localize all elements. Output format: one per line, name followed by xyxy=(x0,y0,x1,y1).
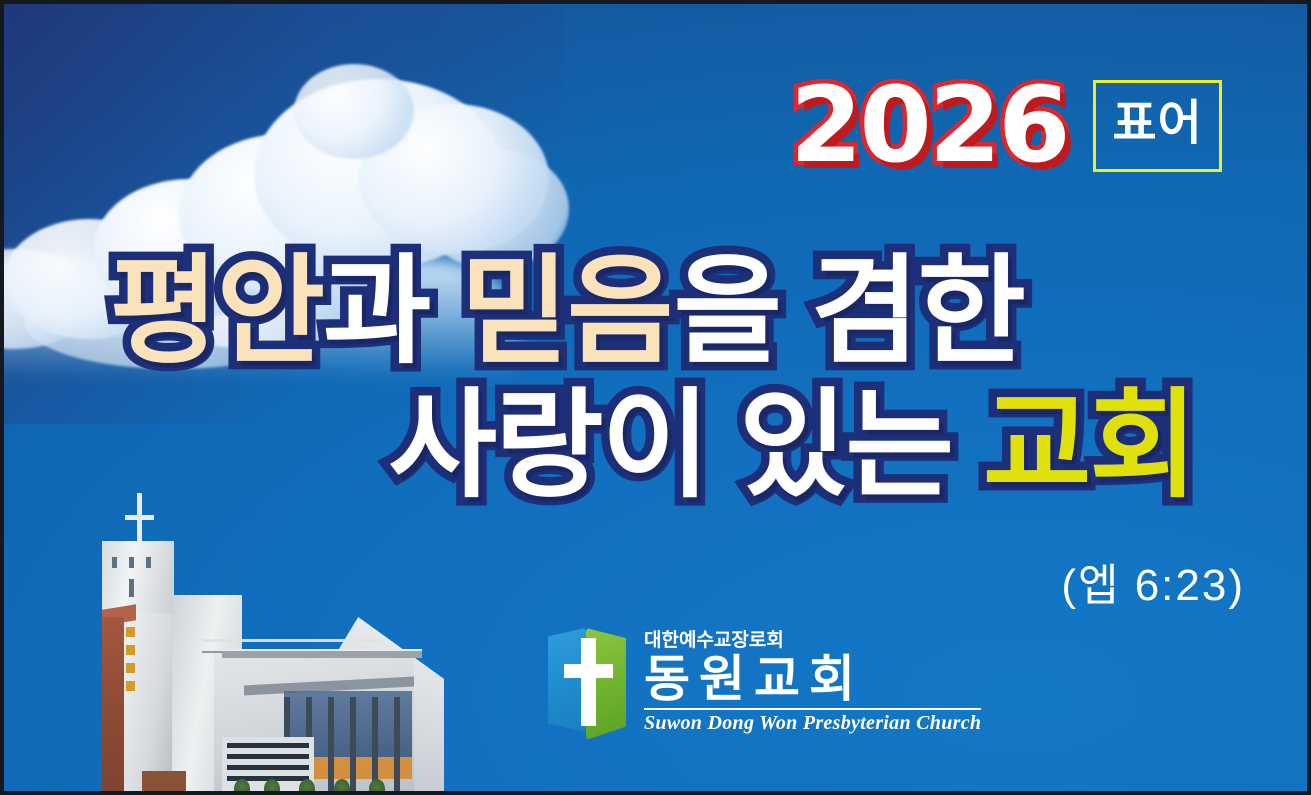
building-column xyxy=(394,697,400,795)
verse-reference: (엡 6:23) xyxy=(1061,549,1245,613)
church-slogan-banner: 2026 표어 평안과 믿음을 겸한 사랑이 있는 교회 (엡 6:23) xyxy=(0,0,1311,795)
building-window xyxy=(129,557,134,568)
tower-sign-char xyxy=(126,663,135,673)
headline-line-1: 평안과 믿음을 겸한 xyxy=(4,252,1254,374)
building-tower-top xyxy=(102,541,174,613)
tree xyxy=(299,779,315,795)
denomination-name: 대한예수교장로회 xyxy=(644,625,981,652)
headline: 평안과 믿음을 겸한 사랑이 있는 교회 xyxy=(4,252,1254,507)
headline-line-2: 사랑이 있는 교회 xyxy=(4,386,1254,508)
slogan-label-box: 표어 xyxy=(1093,80,1221,172)
headline-seg: 믿음 xyxy=(460,252,673,374)
logo-text-block: 대한예수교장로회 동원교회 Suwon Dong Won Presbyteria… xyxy=(644,625,981,736)
year-slogan-row: 2026 표어 xyxy=(790,78,1222,174)
headline-seg: 과 xyxy=(323,252,460,374)
building-window xyxy=(146,557,151,568)
building-entrance xyxy=(142,771,186,795)
tree xyxy=(264,779,280,795)
building-window xyxy=(112,557,117,568)
church-name-english: Suwon Dong Won Presbyterian Church xyxy=(644,708,981,735)
cross-icon xyxy=(581,638,596,726)
headline-seg: 교회 xyxy=(983,386,1196,508)
tree xyxy=(334,779,350,795)
headline-seg: 평안 xyxy=(110,252,323,374)
open-door-cross-icon xyxy=(544,624,630,736)
church-logo: 대한예수교장로회 동원교회 Suwon Dong Won Presbyteria… xyxy=(544,624,981,736)
building-cross-icon xyxy=(125,515,154,520)
slogan-label-text: 표어 xyxy=(1112,100,1202,148)
building-column xyxy=(328,697,334,795)
building-column xyxy=(350,697,356,795)
tower-sign-char xyxy=(126,645,135,655)
year-text: 2026 xyxy=(790,78,1067,174)
tower-sign-char xyxy=(126,627,135,637)
church-name: 동원교회 xyxy=(644,653,981,706)
cloud-puff xyxy=(294,64,414,159)
church-building-photo xyxy=(84,499,444,795)
tree xyxy=(234,779,250,795)
building-accent-column xyxy=(102,617,124,795)
cross-icon xyxy=(564,664,613,678)
headline-seg: 사랑이 있는 xyxy=(389,386,983,508)
headline-seg: 을 겸한 xyxy=(674,252,1024,374)
tree xyxy=(369,779,385,795)
tower-sign-char xyxy=(126,681,135,691)
building-roofline xyxy=(222,649,422,658)
building-window xyxy=(129,579,134,597)
